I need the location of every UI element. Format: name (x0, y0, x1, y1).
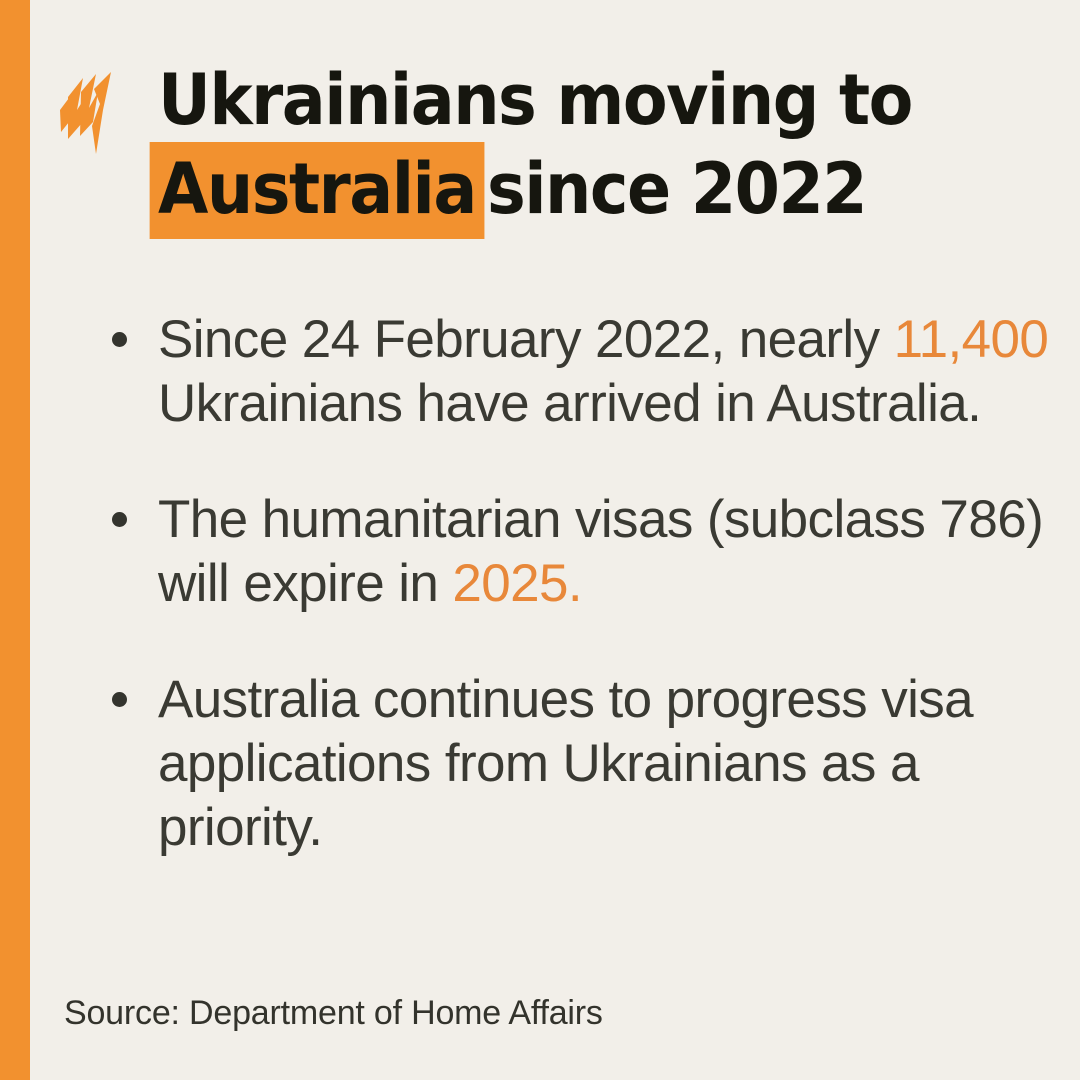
left-accent-bar (0, 0, 30, 1080)
bullet-text-2: The humanitarian visas (subclass 786) wi… (158, 488, 1060, 616)
bullet-text-1: Since 24 February 2022, nearly 11,400 Uk… (158, 308, 1060, 436)
list-item: Australia continues to progress visa app… (112, 668, 1060, 860)
accent-figure-expiry-year: 2025. (452, 554, 582, 613)
bullet-text-3: Australia continues to progress visa app… (158, 668, 1060, 860)
title-line-2: Australiasince 2022 (158, 151, 912, 227)
title-line-2-rest: since 2022 (487, 148, 866, 230)
infographic-card: Ukrainians moving to Australiasince 2022… (0, 0, 1080, 1080)
text-segment: Ukrainians have arrived in Australia. (158, 374, 981, 433)
text-segment: Since 24 February 2022, nearly (158, 310, 894, 369)
bullet-dot-icon (112, 332, 127, 347)
page-title: Ukrainians moving to Australiasince 2022 (158, 62, 969, 227)
title-highlight-australia: Australia (150, 142, 485, 239)
bullet-dot-icon (112, 692, 127, 707)
bullet-dot-icon (112, 512, 127, 527)
accent-figure-arrivals: 11,400 (894, 310, 1049, 369)
list-item: Since 24 February 2022, nearly 11,400 Uk… (112, 308, 1060, 436)
sbs-flame-logo (56, 70, 118, 156)
header: Ukrainians moving to Australiasince 2022 (56, 62, 1050, 227)
title-line-1: Ukrainians moving to (158, 62, 912, 138)
text-segment: Australia continues to progress visa app… (158, 670, 973, 857)
list-item: The humanitarian visas (subclass 786) wi… (112, 488, 1060, 616)
text-segment: The humanitarian visas (subclass 786) wi… (158, 490, 1043, 613)
bullet-list: Since 24 February 2022, nearly 11,400 Uk… (112, 308, 1060, 860)
source-attribution: Source: Department of Home Affairs (64, 993, 603, 1033)
